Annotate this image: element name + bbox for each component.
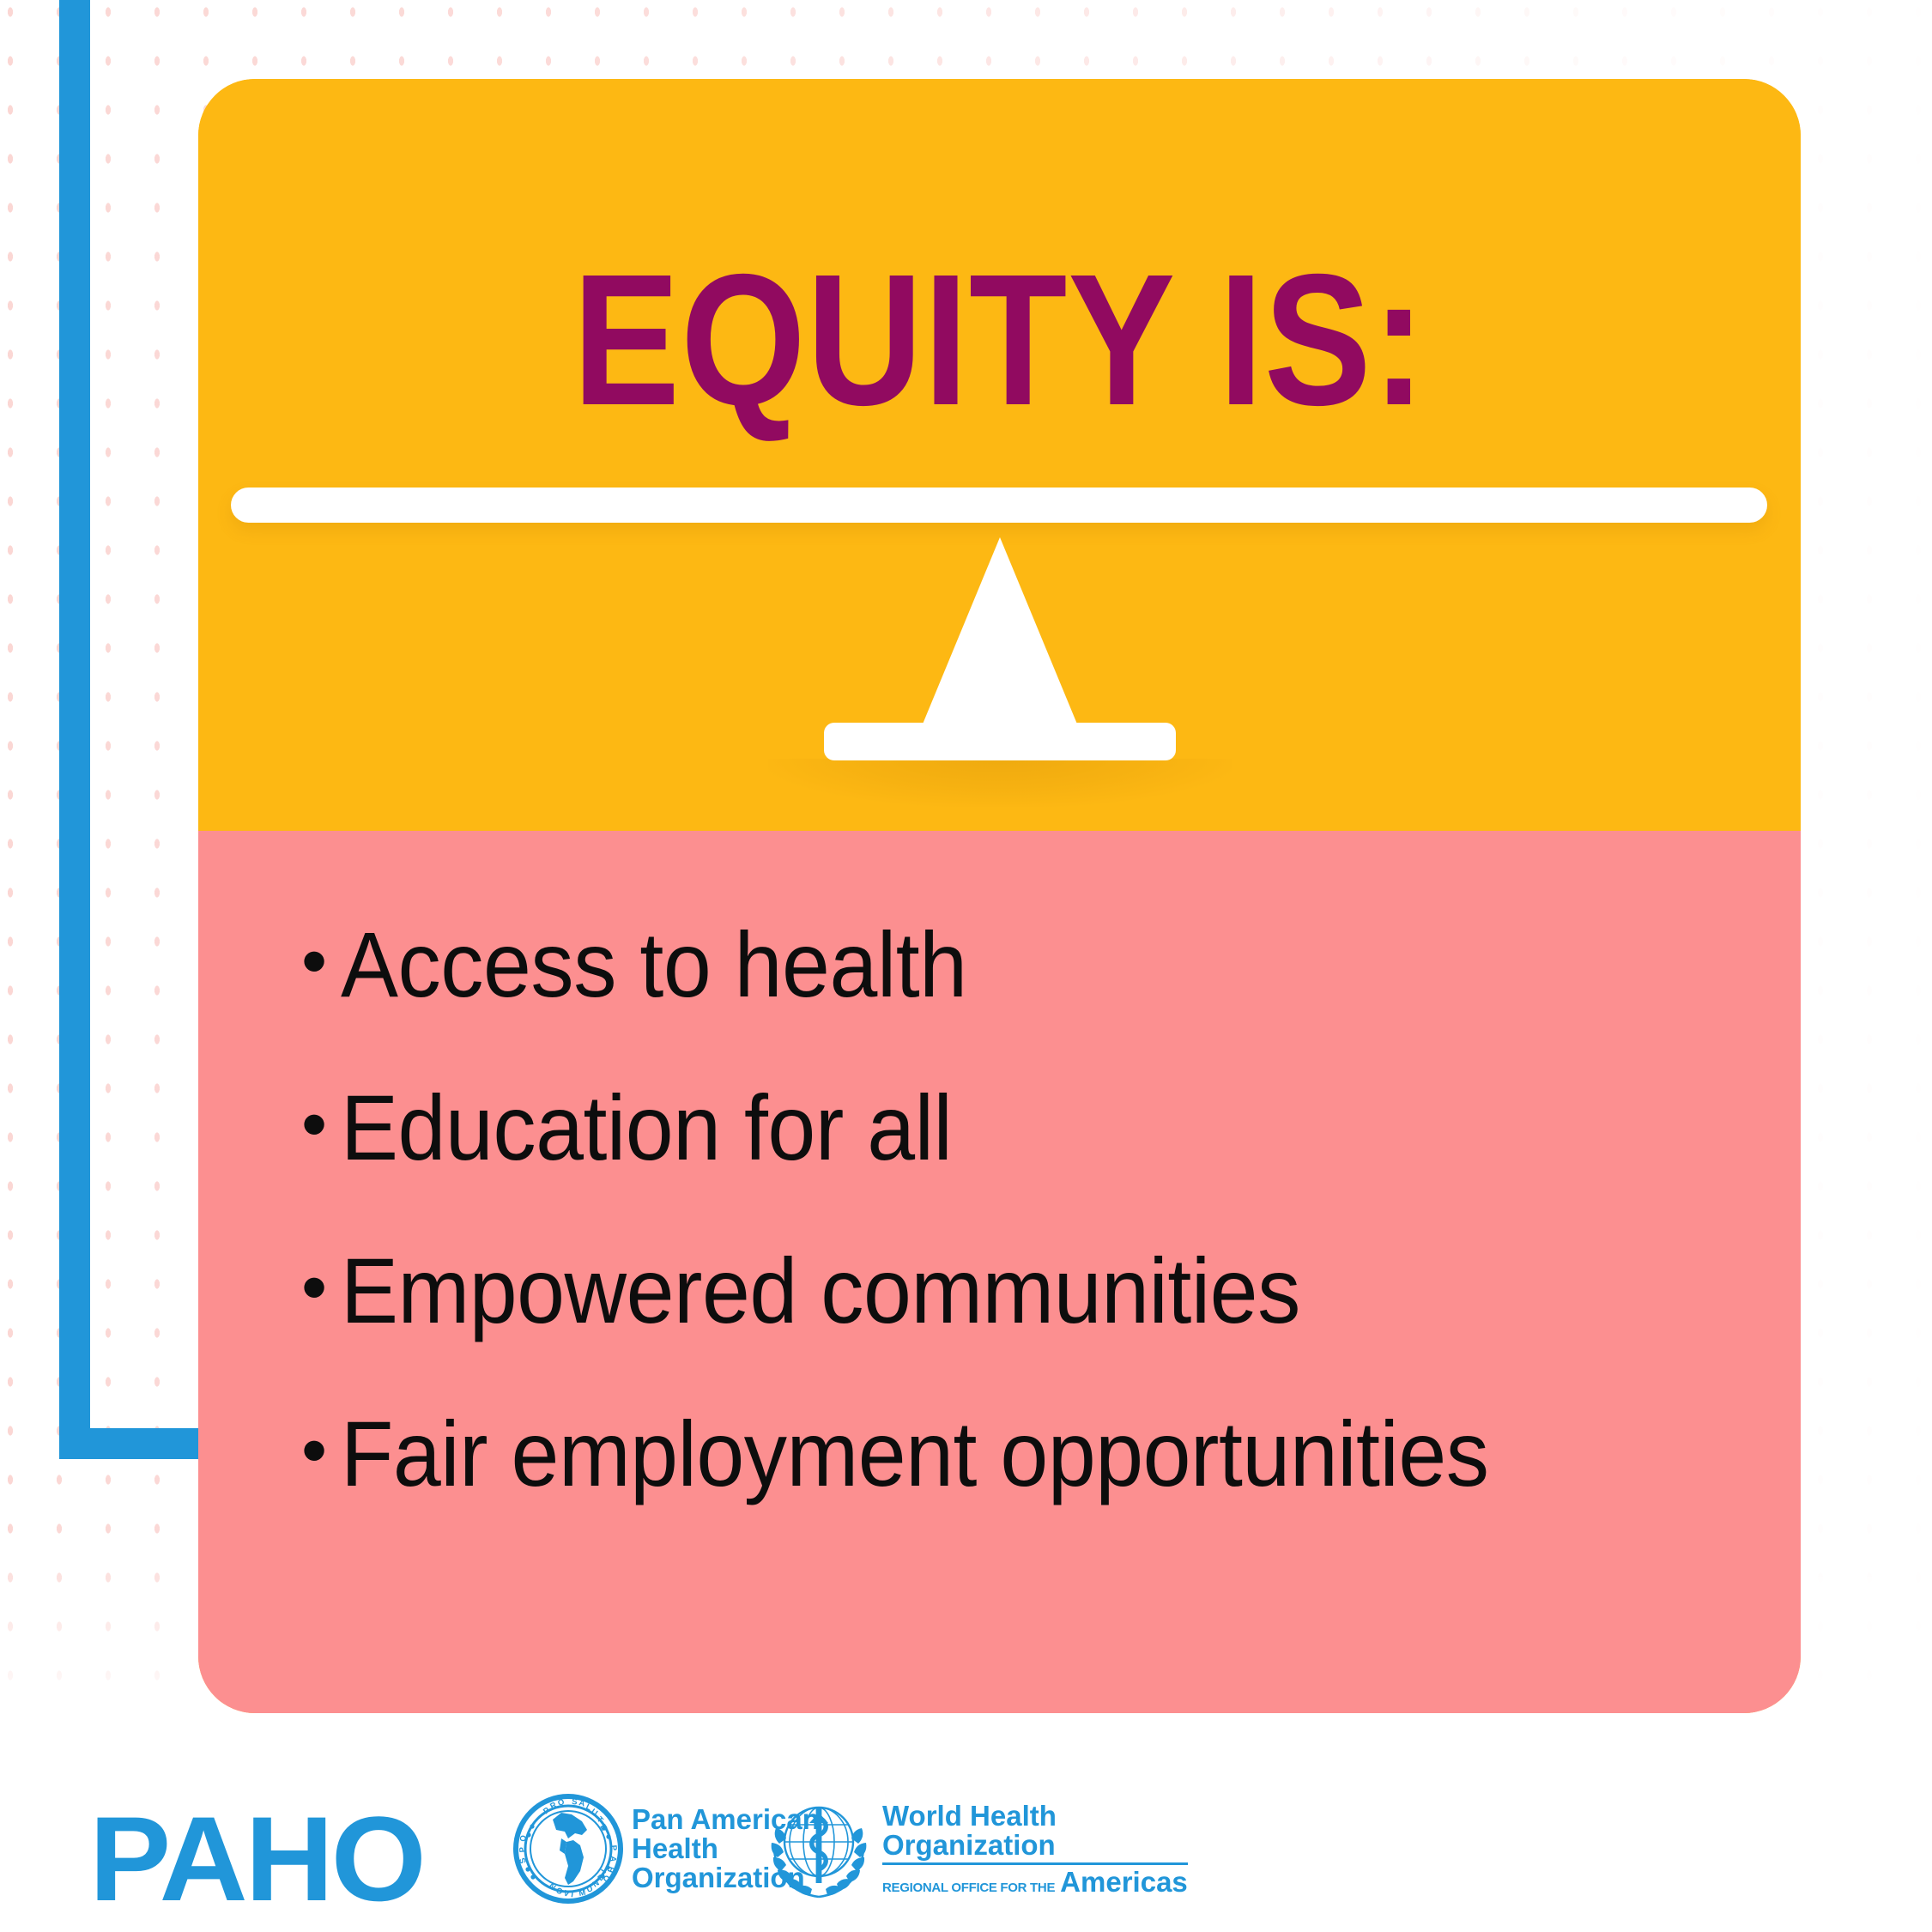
svg-text:A: A [578,1798,585,1808]
who-emblem-icon [762,1792,875,1905]
svg-text:P: P [518,1846,528,1853]
list-item: • Access to health [301,917,1795,1013]
page-title: EQUITY IS: [311,247,1689,434]
list-item: • Fair employment opportunities [301,1406,1795,1502]
card-top-yellow-panel [198,79,1801,831]
list-item: • Empowered communities [301,1243,1795,1339]
content-card: EQUITY IS: • Access to health • Educatio… [198,79,1801,1713]
list-item: • Education for all [301,1080,1795,1176]
paho-wordmark: PAHO [89,1799,424,1919]
equity-bullet-list: • Access to health • Education for all •… [301,917,1795,1569]
bullet-dot-icon: • [301,1406,341,1495]
who-name-line-1: World Health [882,1802,1188,1831]
bullet-dot-icon: • [301,1080,341,1169]
svg-text:M: M [578,1888,587,1899]
poster-canvas: EQUITY IS: • Access to health • Educatio… [0,0,1932,1932]
bullet-dot-icon: • [301,1243,341,1332]
who-divider-rule [882,1862,1188,1865]
who-region-row: REGIONAL OFFICE FOR THE Americas [882,1868,1188,1897]
list-item-label: Access to health [341,917,967,1013]
list-item-label: Education for all [341,1080,952,1176]
list-item-label: Fair employment opportunities [341,1406,1489,1502]
list-item-label: Empowered communities [341,1243,1300,1339]
who-region-label: Americas [1060,1868,1188,1897]
who-regional-office-label: REGIONAL OFFICE FOR THE [882,1881,1055,1897]
paho-seal-icon: P R O S A L U T E N O V I M U N D [512,1792,625,1905]
blue-bracket-vertical [59,0,90,1459]
svg-text:S: S [572,1797,578,1807]
who-name-line-2: Organization [882,1831,1188,1860]
footer-bar: PAHO P R O S A L U T E [0,1766,1932,1932]
svg-text:I: I [571,1890,574,1899]
svg-text:P: P [609,1844,618,1851]
who-name-block: World Health Organization REGIONAL OFFIC… [882,1802,1188,1897]
who-logo-lockup: World Health Organization REGIONAL OFFIC… [762,1792,1188,1905]
bullet-dot-icon: • [301,917,341,1006]
